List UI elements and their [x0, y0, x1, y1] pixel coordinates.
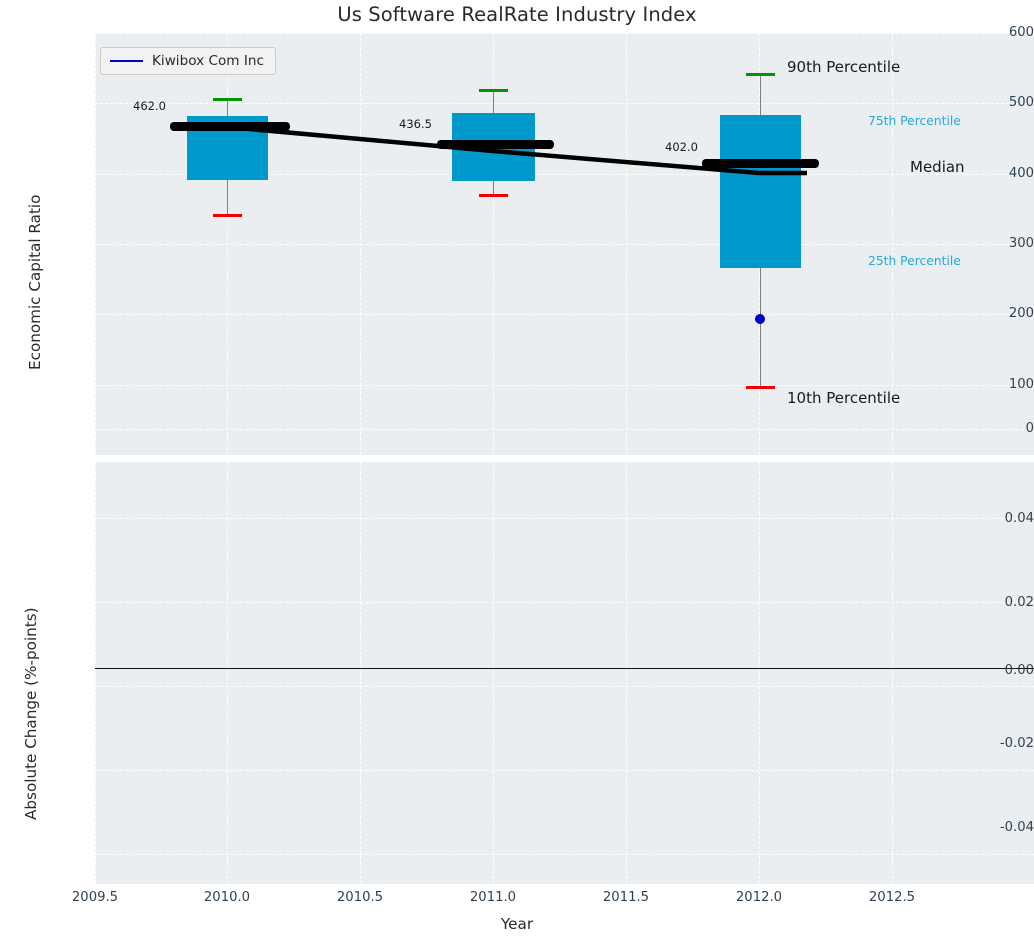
gridline-h-0: [95, 429, 1034, 430]
gridline-h-200: [95, 314, 1034, 315]
xtick-2009-5: 2009.5: [55, 890, 135, 905]
whisker-cap-low-2011: [479, 194, 508, 197]
xtick-2012-0: 2012.0: [719, 890, 799, 905]
xtick-2011-5: 2011.5: [586, 890, 666, 905]
xtick-2012-5: 2012.5: [852, 890, 932, 905]
ytick-bot-neg-0-02: -0.02: [951, 736, 1034, 751]
legend-line-icon: [110, 60, 143, 62]
gridline-v-bot-2011-5: [626, 462, 627, 884]
gridline-v-bot-2011-0: [493, 462, 494, 884]
legend[interactable]: Kiwibox Com Inc: [100, 47, 276, 75]
x-axis-label: Year: [0, 915, 1034, 933]
median-bar-2012: [702, 159, 819, 168]
gridline-v-bot-2010-0: [227, 462, 228, 884]
ytick-top-300: 300: [951, 236, 1034, 251]
median-bar-2011: [437, 140, 554, 149]
whisker-cap-low-2010: [213, 214, 242, 217]
xtick-2010-0: 2010.0: [187, 890, 267, 905]
gridline-v-bot-2009-5: [95, 462, 96, 884]
annotation-75th-percentile: 75th Percentile: [868, 114, 961, 128]
bottom-panel-plot-area: [95, 462, 1034, 884]
ytick-bot-0-02: 0.02: [951, 595, 1034, 610]
gridline-h-0-04: [95, 518, 1034, 519]
annotation-10th-percentile: 10th Percentile: [787, 389, 900, 407]
box-2012: [720, 115, 801, 268]
gridline-h-500: [95, 103, 1034, 104]
xtick-2010-5: 2010.5: [320, 890, 400, 905]
median-value-2010: 462.0: [133, 99, 166, 113]
ytick-top-600: 600: [951, 25, 1034, 40]
whisker-cap-high-2012: [746, 73, 775, 76]
whisker-cap-high-2011: [479, 89, 508, 92]
gridline-v-bot-2010-5: [360, 462, 361, 884]
gridline-v-2009-5: [95, 33, 96, 455]
ytick-top-100: 100: [951, 377, 1034, 392]
annotation-median: Median: [910, 158, 965, 176]
chart-title: Us Software RealRate Industry Index: [0, 3, 1034, 26]
median-value-2012: 402.0: [665, 140, 698, 154]
whisker-cap-low-2012: [746, 386, 775, 389]
gridline-h-300: [95, 244, 1034, 245]
ytick-top-500: 500: [951, 95, 1034, 110]
gridline-v-2011-5: [626, 33, 627, 455]
y-axis-label-top: Economic Capital Ratio: [26, 195, 44, 370]
median-bar-2010: [170, 122, 290, 131]
gridline-h-600: [95, 33, 1034, 34]
whisker-cap-high-2010: [213, 98, 242, 101]
median-value-2011: 436.5: [399, 117, 432, 131]
gridline-h-0-02: [95, 602, 1034, 603]
ytick-bot-0-00: 0.00: [951, 663, 1034, 678]
zero-reference-line: [95, 668, 1034, 669]
ytick-top-0: 0: [951, 421, 1034, 436]
gridline-v-bot-2012-5: [892, 462, 893, 884]
ytick-bot-neg-0-04: -0.04: [951, 820, 1034, 835]
gridline-v-bot-2012-0: [759, 462, 760, 884]
legend-label-kiwibox: Kiwibox Com Inc: [152, 53, 264, 69]
xtick-2011-0: 2011.0: [453, 890, 533, 905]
gridline-h-0-00: [95, 686, 1034, 687]
y-axis-label-bottom: Absolute Change (%-points): [22, 607, 40, 820]
chart-figure: Us Software RealRate Industry Index 600 …: [0, 0, 1034, 942]
gridline-v-2010-5: [360, 33, 361, 455]
ytick-top-200: 200: [951, 306, 1034, 321]
gridline-h-neg-0-04: [95, 854, 1034, 855]
company-data-point-kiwibox-2012[interactable]: [755, 314, 765, 324]
gridline-h-neg-0-02: [95, 770, 1034, 771]
ytick-bot-0-04: 0.04: [951, 511, 1034, 526]
annotation-25th-percentile: 25th Percentile: [868, 254, 961, 268]
gridline-v-2010-0: [227, 33, 228, 455]
gridline-h-100: [95, 385, 1034, 386]
annotation-90th-percentile: 90th Percentile: [787, 58, 900, 76]
